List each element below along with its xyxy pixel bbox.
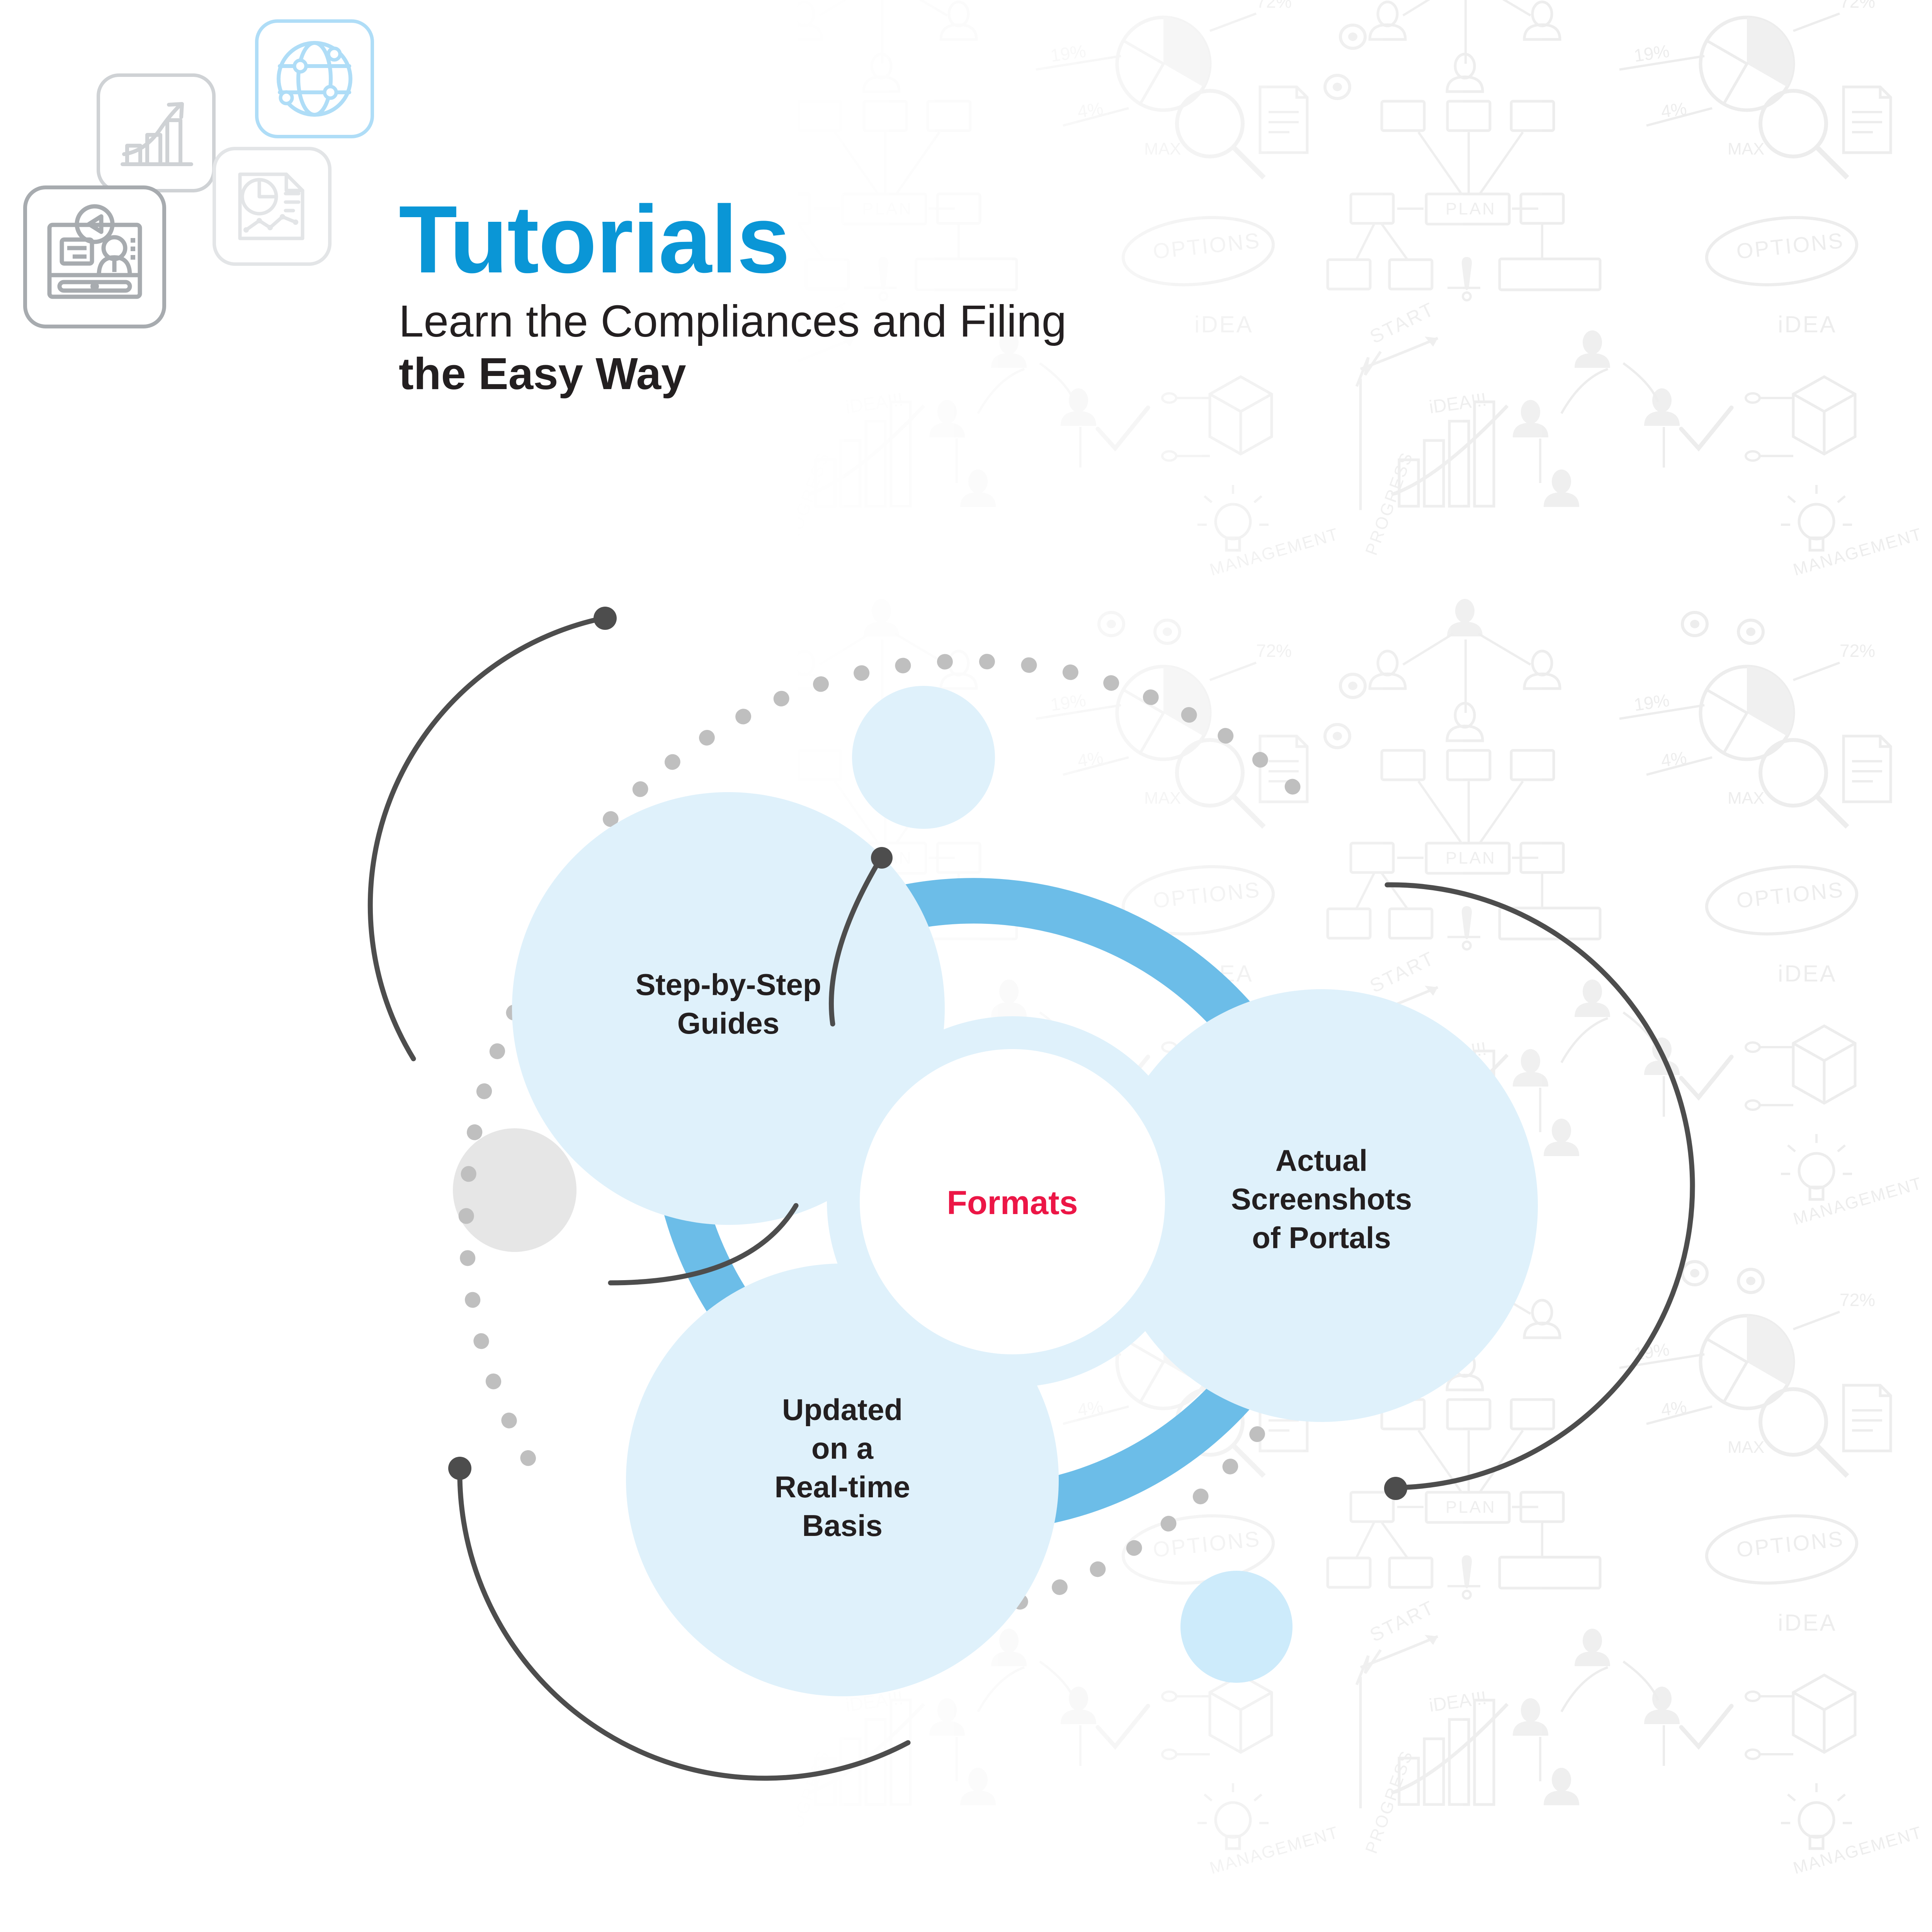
node-label-line: of Portals	[1252, 1221, 1391, 1255]
node-label-line: Updated	[782, 1393, 903, 1427]
growth-chart-icon	[97, 73, 216, 192]
node-label-line: Guides	[677, 1006, 779, 1040]
node-label-line: on a	[811, 1431, 874, 1465]
video-tutorial-icon	[23, 185, 166, 328]
arc-endpoint-dot-center	[871, 847, 893, 869]
infographic-canvas: 19% 4% 72%	[0, 0, 1932, 1932]
node-label-line: Actual	[1276, 1143, 1367, 1177]
decor-gray-circle-left	[453, 1128, 577, 1252]
decor-blue-circle-top	[852, 686, 995, 829]
arc-endpoint-dot-right	[1384, 1477, 1407, 1500]
page-subtitle: Learn the Compliances and Filing the Eas…	[399, 295, 1481, 400]
globe-network-icon	[255, 19, 374, 138]
node-label-line: Basis	[802, 1509, 883, 1543]
arc-endpoint-dot-bottom-left	[448, 1457, 471, 1480]
page-title: Tutorials	[399, 193, 1481, 285]
node-label-line: Step-by-Step	[635, 968, 821, 1002]
formats-venn-diagram: Step-by-Step Guides Actual Screenshots o…	[332, 549, 1762, 1785]
center-label-formats: Formats	[947, 1184, 1078, 1221]
page-header: Tutorials Learn the Compliances and Fili…	[399, 193, 1481, 400]
node-label-line: Screenshots	[1231, 1182, 1412, 1216]
page-subtitle-line1: Learn the Compliances and Filing	[399, 296, 1066, 346]
decor-blue-circle-bottom	[1180, 1571, 1293, 1683]
arc-endpoint-dot-top	[594, 607, 617, 630]
report-document-icon	[213, 147, 332, 266]
icon-cluster	[23, 19, 371, 383]
page-subtitle-line2: the Easy Way	[399, 348, 1481, 400]
node-label-line: Real-time	[774, 1470, 910, 1504]
